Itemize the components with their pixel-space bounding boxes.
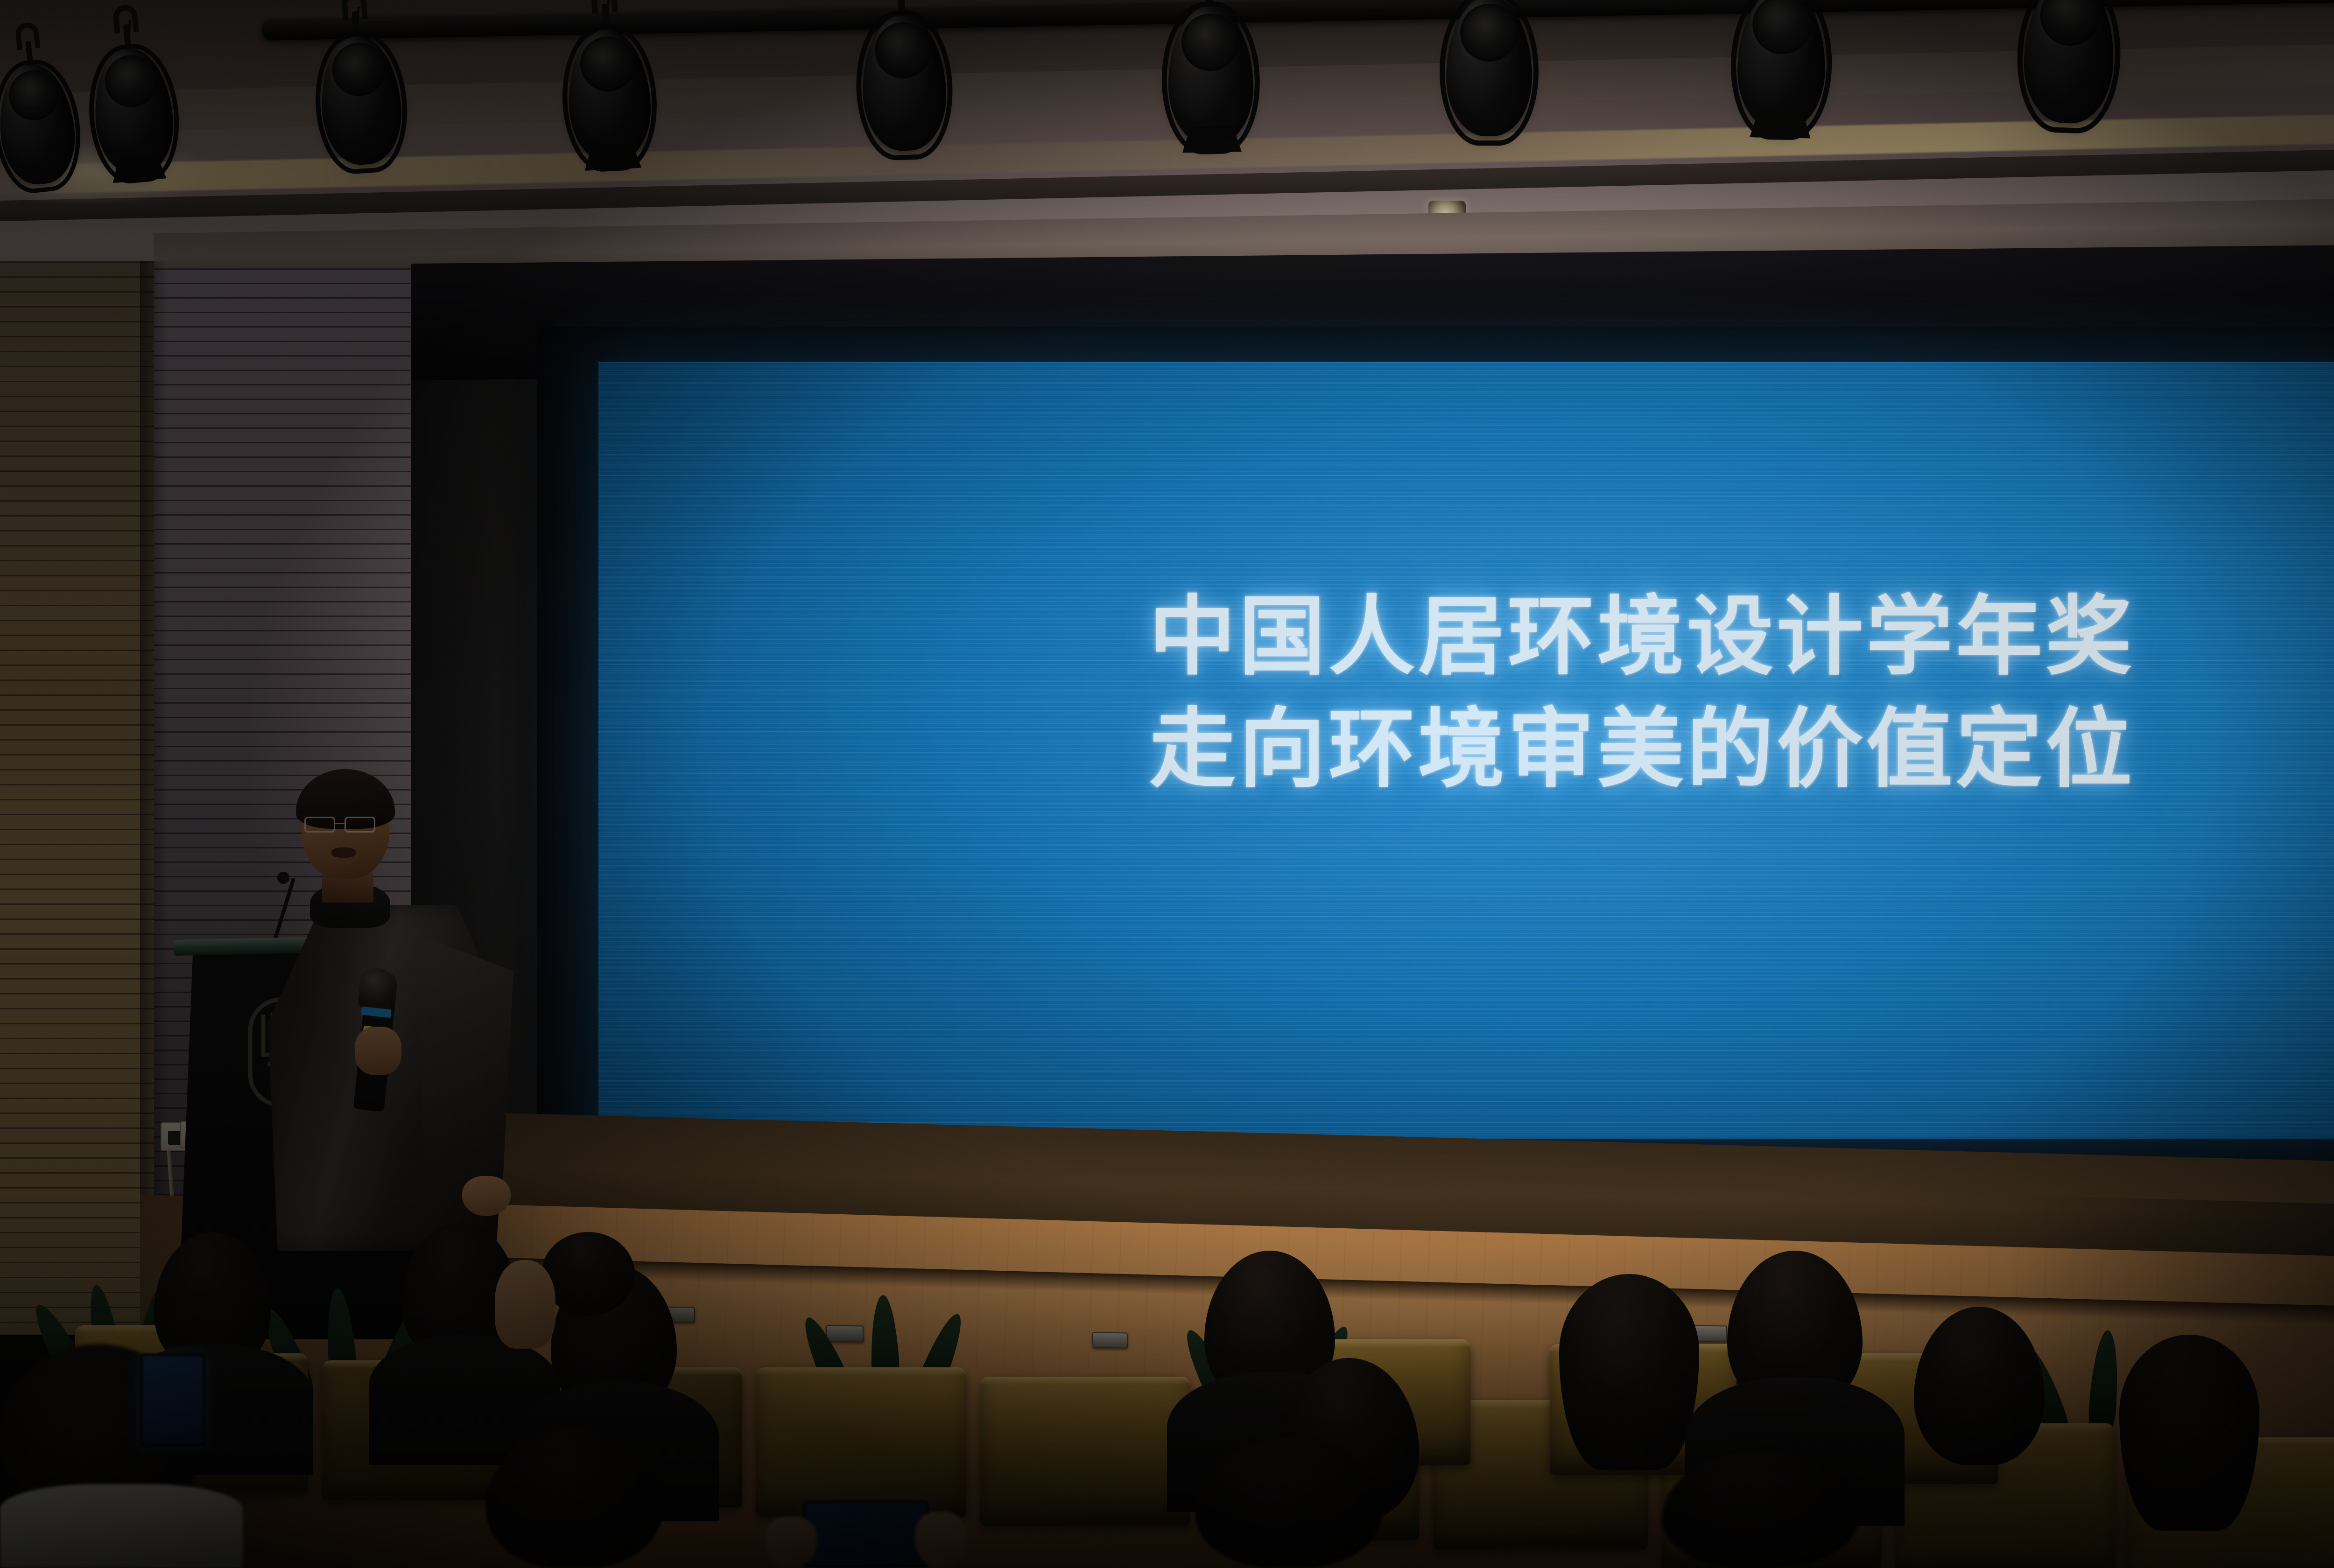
spotlight-barndoor <box>583 143 641 171</box>
audience-hand-holding-phone <box>915 1512 966 1568</box>
presenter-eyeglasses <box>304 817 388 833</box>
slide-title-line-2: 走向环境审美的价值定位 <box>1149 693 2316 806</box>
audience-head-long-hair <box>1559 1274 1699 1470</box>
presenter-right-arm <box>415 933 513 1204</box>
left-wood-slat-wall <box>0 261 154 1335</box>
seat-top-rim <box>980 1377 1190 1385</box>
audience-head-long-hair <box>2119 1335 2259 1531</box>
presenter-mouth <box>331 847 356 858</box>
audience-head-bun <box>541 1232 635 1316</box>
audience-phone-camera[interactable] <box>803 1500 929 1568</box>
wall-corner-shadow <box>140 261 168 1335</box>
spotlight-barndoor <box>1750 111 1811 138</box>
spotlight-frame <box>1440 0 1539 146</box>
audience-white-jacket <box>0 1484 243 1568</box>
audience-phone-camera[interactable] <box>140 1353 205 1447</box>
audience-hand-holding-phone <box>766 1517 817 1568</box>
spotlight-barndoor <box>111 155 167 183</box>
audience-raised-hand <box>495 1260 555 1349</box>
slide-title-line-1: 中国人居环境设计学年奖 <box>1149 581 2316 693</box>
auditorium-photo-scene: 中国人居环境设计学年奖 走向环境审美的价值定位 <box>0 0 2334 1568</box>
eyeglass-bridge <box>335 823 344 824</box>
auditorium-seat[interactable] <box>756 1367 966 1517</box>
seat-top-rim <box>756 1367 966 1376</box>
stage-floor-socket <box>1092 1332 1128 1349</box>
presenter-left-hand <box>355 1027 401 1075</box>
led-presentation-screen: 中国人居环境设计学年奖 走向环境审美的价值定位 <box>598 362 2334 1139</box>
auditorium-seat[interactable] <box>980 1377 1190 1526</box>
presenter-right-hand <box>462 1176 511 1216</box>
slide-title-block: 中国人居环境设计学年奖 走向环境审美的价值定位 <box>1149 581 2316 805</box>
eyeglass-lens-left <box>304 817 335 833</box>
spotlight-barndoor <box>1182 126 1242 153</box>
eyeglass-lens-right <box>344 817 375 833</box>
